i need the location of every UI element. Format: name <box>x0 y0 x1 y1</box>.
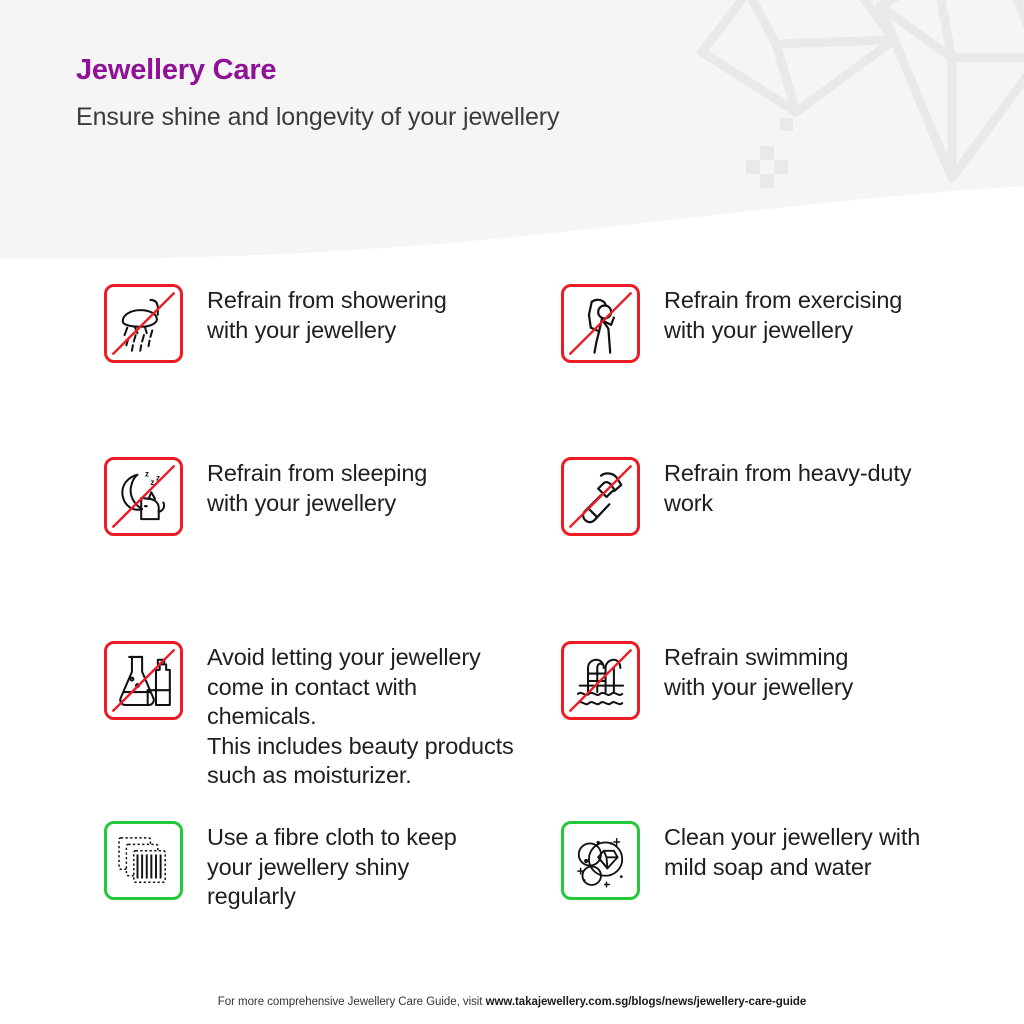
infographic-page: Jewellery Care Ensure shine and longevit… <box>0 0 1024 1024</box>
tip-text-heavy-duty-work: Refrain from heavy-duty work <box>664 457 911 518</box>
badge-exercising <box>561 284 640 363</box>
diamond-watermark-icon <box>684 0 1024 240</box>
tip-text-showering: Refrain from showering with your jewelle… <box>207 284 447 345</box>
flask-spray-bottle-icon <box>107 644 180 717</box>
hammer-icon <box>564 460 637 533</box>
page-title: Jewellery Care <box>76 55 559 87</box>
footer-url[interactable]: www.takajewellery.com.sg/blogs/news/jewe… <box>486 996 807 1008</box>
tip-line: Refrain from exercising <box>664 286 902 316</box>
tip-line: with your jewellery <box>664 316 902 346</box>
tip-line: Refrain from sleeping <box>207 459 427 489</box>
tip-heavy-duty-work: Refrain from heavy-duty work <box>561 457 961 536</box>
tip-line: such as moisturizer. <box>207 761 524 791</box>
shower-head-icon <box>107 287 180 360</box>
tip-line: regularly <box>207 882 457 912</box>
tip-text-mild-soap: Clean your jewellery with mild soap and … <box>664 821 920 882</box>
tip-exercising: Refrain from exercising with your jewell… <box>561 284 961 363</box>
tip-line: Avoid letting your jewellery <box>207 643 524 673</box>
page-subtitle: Ensure shine and longevity of your jewel… <box>76 102 559 133</box>
badge-chemicals <box>104 641 183 720</box>
tip-line: Refrain from heavy-duty <box>664 459 911 489</box>
tip-line: with your jewellery <box>207 489 427 519</box>
badge-sleeping: z z z <box>104 457 183 536</box>
gem-soap-bubbles-icon <box>564 824 637 897</box>
moon-sleeping-cat-icon: z z z <box>107 460 180 533</box>
tip-text-exercising: Refrain from exercising with your jewell… <box>664 284 902 345</box>
tip-text-swimming: Refrain swimming with your jewellery <box>664 641 853 702</box>
badge-heavy-duty-work <box>561 457 640 536</box>
tip-line: work <box>664 489 911 519</box>
tip-sleeping: z z z Refrain from sleeping with your je… <box>104 457 504 536</box>
tip-line: Use a fibre cloth to keep <box>207 823 457 853</box>
badge-mild-soap <box>561 821 640 900</box>
tip-line: with your jewellery <box>664 673 853 703</box>
header-band: Jewellery Care Ensure shine and longevit… <box>0 0 1024 270</box>
person-exercising-icon <box>564 287 637 360</box>
pool-ladder-water-icon <box>564 644 637 717</box>
tip-swimming: Refrain swimming with your jewellery <box>561 641 961 720</box>
tip-line: with your jewellery <box>207 316 447 346</box>
tip-line: come in contact with chemicals. <box>207 673 524 732</box>
tip-line: Refrain from showering <box>207 286 447 316</box>
tip-fibre-cloth: Use a fibre cloth to keep your jewellery… <box>104 821 504 912</box>
header-text-block: Jewellery Care Ensure shine and longevit… <box>76 55 559 133</box>
footer-note: For more comprehensive Jewellery Care Gu… <box>0 996 1024 1008</box>
stacked-cloths-icon <box>107 824 180 897</box>
tip-chemicals: Avoid letting your jewellery come in con… <box>104 641 524 791</box>
footer-prefix: For more comprehensive Jewellery Care Gu… <box>218 996 486 1008</box>
tip-mild-soap: Clean your jewellery with mild soap and … <box>561 821 961 900</box>
svg-text:z: z <box>145 469 149 479</box>
tip-text-sleeping: Refrain from sleeping with your jeweller… <box>207 457 427 518</box>
tip-showering: Refrain from showering with your jewelle… <box>104 284 504 363</box>
tip-line: mild soap and water <box>664 853 920 883</box>
badge-swimming <box>561 641 640 720</box>
tip-line: This includes beauty products <box>207 732 524 762</box>
tip-line: your jewellery shiny <box>207 853 457 883</box>
tip-text-fibre-cloth: Use a fibre cloth to keep your jewellery… <box>207 821 457 912</box>
tip-line: Refrain swimming <box>664 643 853 673</box>
badge-fibre-cloth <box>104 821 183 900</box>
tip-line: Clean your jewellery with <box>664 823 920 853</box>
tip-text-chemicals: Avoid letting your jewellery come in con… <box>207 641 524 791</box>
badge-showering <box>104 284 183 363</box>
